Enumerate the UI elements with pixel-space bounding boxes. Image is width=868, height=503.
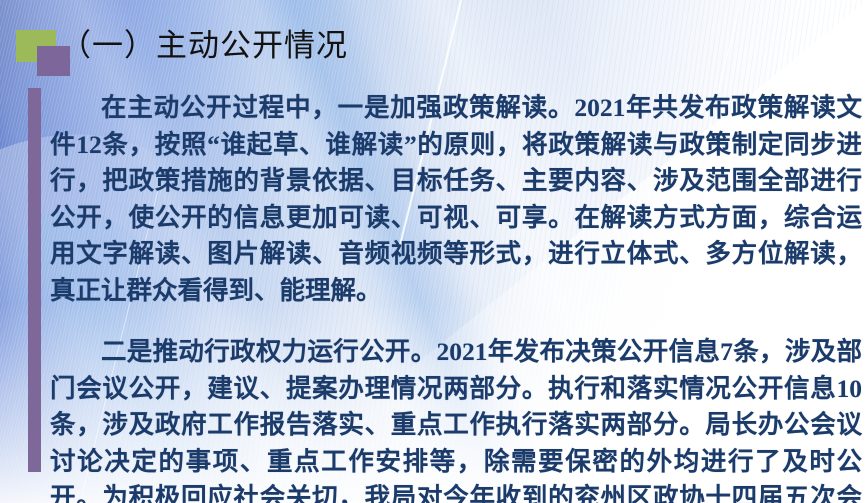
slide-body: 在主动公开过程中，一是加强政策解读。2021年共发布政策解读文件12条，按照“谁…	[50, 90, 862, 503]
slide-title: （一）主动公开情况	[60, 27, 348, 66]
body-paragraph: 二是推动行政权力运行公开。2021年发布决策公开信息7条，涉及部门会议公开，建议…	[50, 334, 862, 503]
presentation-slide: （一）主动公开情况 在主动公开过程中，一是加强政策解读。2021年共发布政策解读…	[0, 0, 868, 503]
purple-vertical-bar-decoration	[28, 88, 41, 472]
body-paragraph: 在主动公开过程中，一是加强政策解读。2021年共发布政策解读文件12条，按照“谁…	[50, 90, 862, 309]
